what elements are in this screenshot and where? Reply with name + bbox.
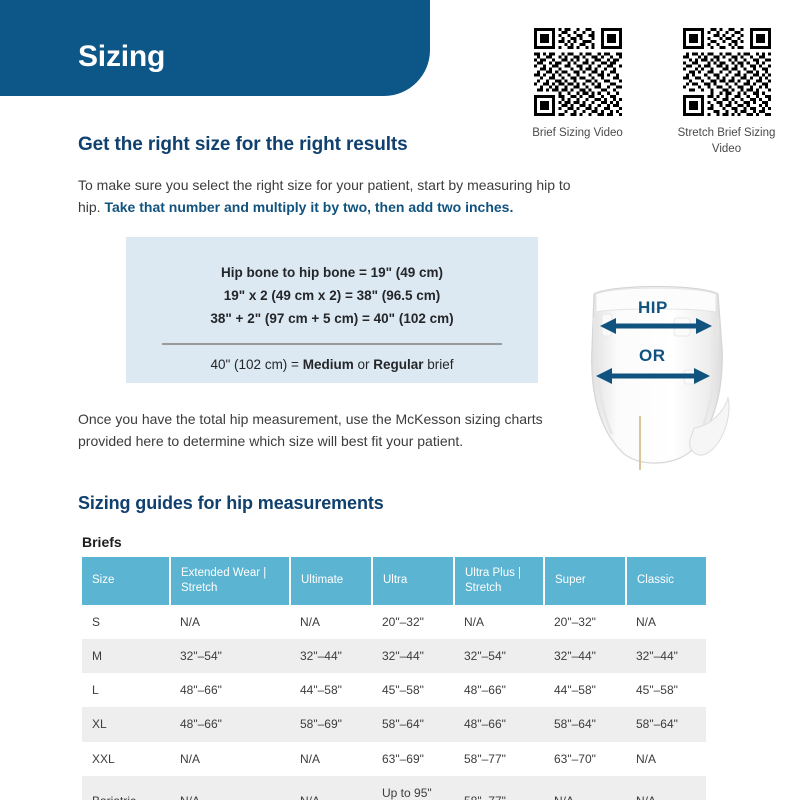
sizing-page: Sizing xyxy=(0,0,800,800)
cell-ultra: 63"–69" xyxy=(372,742,454,776)
section-heading-get-right-size: Get the right size for the right results xyxy=(78,134,408,156)
formula-result-mid: or xyxy=(354,357,374,372)
column-header-size: Size xyxy=(82,557,170,605)
cell-extended-wear: 32"–54" xyxy=(170,639,290,673)
qr-caption-stretch-brief: Stretch Brief Sizing Video xyxy=(665,126,788,157)
column-header-super: Super xyxy=(544,557,626,605)
cell-classic: 58"–64" xyxy=(626,707,706,741)
briefs-sizing-table: Size Extended Wear | Stretch Ultimate Ul… xyxy=(82,557,706,800)
cell-ultimate: N/A xyxy=(290,742,372,776)
column-header-ultimate: Ultimate xyxy=(290,557,372,605)
qr-code-group: Brief Sizing Video xyxy=(516,28,788,157)
cell-ultra: 58"–64" xyxy=(372,707,454,741)
instructions-paragraph: Once you have the total hip measurement,… xyxy=(78,408,548,453)
cell-classic: N/A xyxy=(626,742,706,776)
brief-product-illustration: HIP OR xyxy=(566,278,748,478)
cell-size: M xyxy=(82,639,170,673)
table-row: XXL N/A N/A 63"–69" 58"–77" 63"–70" N/A xyxy=(82,742,706,776)
table-body: S N/A N/A 20"–32" N/A 20"–32" N/A M 32"–… xyxy=(82,605,706,800)
cell-ultimate: N/A xyxy=(290,776,372,800)
cell-ultra: 45"–58" xyxy=(372,673,454,707)
qr-item-stretch-brief[interactable]: Stretch Brief Sizing Video xyxy=(665,28,788,157)
cell-size: L xyxy=(82,673,170,707)
table-row: M 32"–54" 32"–44" 32"–44" 32"–54" 32"–44… xyxy=(82,639,706,673)
qr-caption-brief: Brief Sizing Video xyxy=(516,126,639,142)
cell-ultra-plus: 48"–66" xyxy=(454,707,544,741)
cell-ultra-plus: 48"–66" xyxy=(454,673,544,707)
cell-ultra-plus: 58"–77" xyxy=(454,776,544,800)
cell-super: N/A xyxy=(544,776,626,800)
table-header-row: Size Extended Wear | Stretch Ultimate Ul… xyxy=(82,557,706,605)
stretch-brief-sizing-video-qr-icon[interactable] xyxy=(683,28,771,116)
formula-line-3: 38" + 2" (97 cm + 5 cm) = 40" (102 cm) xyxy=(146,307,518,330)
formula-line-1: Hip bone to hip bone = 19" (49 cm) xyxy=(146,261,518,284)
cell-super: 32"–44" xyxy=(544,639,626,673)
cell-size: XL xyxy=(82,707,170,741)
cell-super: 58"–64" xyxy=(544,707,626,741)
cell-size: Bariatric xyxy=(82,776,170,800)
formula-result-prefix: 40" (102 cm) = xyxy=(210,357,302,372)
cell-extended-wear: 48"–66" xyxy=(170,673,290,707)
hip-measurement-label: HIP xyxy=(638,298,668,318)
table-title-briefs: Briefs xyxy=(82,534,122,550)
table-row: L 48"–66" 44"–58" 45"–58" 48"–66" 44"–58… xyxy=(82,673,706,707)
cell-size: S xyxy=(82,605,170,639)
cell-super: 44"–58" xyxy=(544,673,626,707)
cell-size: XXL xyxy=(82,742,170,776)
intro-text-bold: Take that number and multiply it by two,… xyxy=(104,199,513,215)
table-row: S N/A N/A 20"–32" N/A 20"–32" N/A xyxy=(82,605,706,639)
cell-ultimate: 58"–69" xyxy=(290,707,372,741)
page-header-banner: Sizing xyxy=(0,0,430,96)
formula-divider xyxy=(162,343,502,345)
section-heading-sizing-guides: Sizing guides for hip measurements xyxy=(78,493,384,514)
cell-ultra-plus: 58"–77" xyxy=(454,742,544,776)
intro-paragraph: To make sure you select the right size f… xyxy=(78,174,578,219)
cell-ultra-plus: 32"–54" xyxy=(454,639,544,673)
formula-line-2: 19" x 2 (49 cm x 2) = 38" (96.5 cm) xyxy=(146,284,518,307)
cell-classic: N/A xyxy=(626,605,706,639)
formula-result-alt-size: Regular xyxy=(373,357,423,372)
cell-extended-wear: N/A xyxy=(170,605,290,639)
cell-classic: N/A xyxy=(626,776,706,800)
cell-super: 20"–32" xyxy=(544,605,626,639)
cell-ultra: Up to 95" Waist xyxy=(372,776,454,800)
cell-ultimate: 44"–58" xyxy=(290,673,372,707)
column-header-ultra-plus-stretch: Ultra Plus | Stretch xyxy=(454,557,544,605)
cell-super: 63"–70" xyxy=(544,742,626,776)
table-row: Bariatric N/A N/A Up to 95" Waist 58"–77… xyxy=(82,776,706,800)
table-row: XL 48"–66" 58"–69" 58"–64" 48"–66" 58"–6… xyxy=(82,707,706,741)
or-measurement-label: OR xyxy=(639,346,666,366)
cell-extended-wear: 48"–66" xyxy=(170,707,290,741)
column-header-extended-wear-stretch: Extended Wear | Stretch xyxy=(170,557,290,605)
cell-ultra: 20"–32" xyxy=(372,605,454,639)
cell-classic: 45"–58" xyxy=(626,673,706,707)
cell-ultimate: N/A xyxy=(290,605,372,639)
cell-ultra-plus: N/A xyxy=(454,605,544,639)
column-header-classic: Classic xyxy=(626,557,706,605)
cell-extended-wear: N/A xyxy=(170,742,290,776)
page-title: Sizing xyxy=(78,40,165,74)
formula-result-suffix: brief xyxy=(424,357,454,372)
cell-ultra: 32"–44" xyxy=(372,639,454,673)
formula-callout-box: Hip bone to hip bone = 19" (49 cm) 19" x… xyxy=(126,237,538,383)
formula-result: 40" (102 cm) = Medium or Regular brief xyxy=(146,357,518,372)
brief-sizing-video-qr-icon[interactable] xyxy=(534,28,622,116)
cell-classic: 32"–44" xyxy=(626,639,706,673)
cell-ultimate: 32"–44" xyxy=(290,639,372,673)
formula-result-size: Medium xyxy=(303,357,354,372)
cell-extended-wear: N/A xyxy=(170,776,290,800)
column-header-ultra: Ultra xyxy=(372,557,454,605)
qr-item-brief[interactable]: Brief Sizing Video xyxy=(516,28,639,157)
